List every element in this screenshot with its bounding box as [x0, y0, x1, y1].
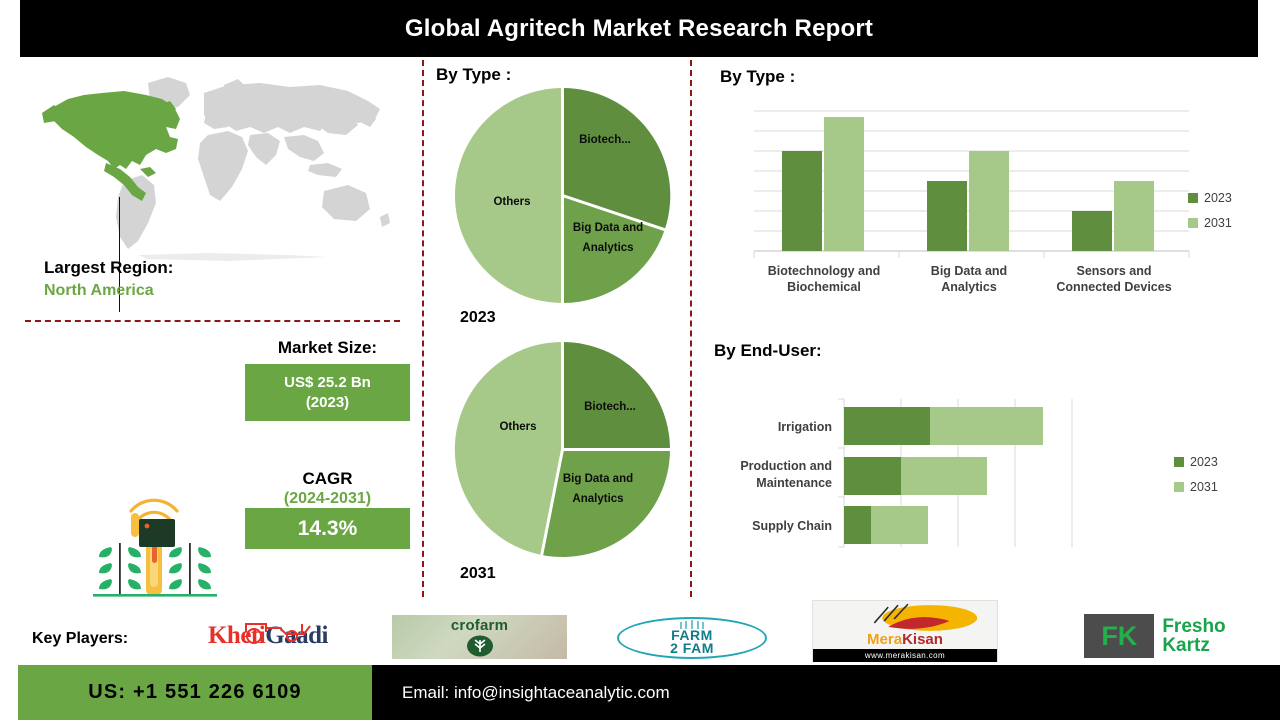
merakisan-part2: Kisan [902, 631, 943, 648]
pie-chart-2023: Biotech... Big Data and Analytics Others [450, 83, 675, 308]
legend-label-2023: 2023 [1204, 191, 1232, 205]
hbar-2031-irrigation [930, 407, 1043, 445]
pie-2023-label-bigdata: Big Data and [573, 222, 643, 234]
pie-section-title: By Type : [436, 65, 511, 85]
hbar-2031-supplychain [871, 506, 928, 544]
enduser-chart-legend: 2023 2031 [1174, 455, 1218, 505]
legend2-item-2031: 2031 [1174, 480, 1218, 494]
cagr-period: (2024-2031) [245, 490, 410, 508]
key-players-row: Key Players: KhetiGaadi crofarm [0, 597, 1280, 665]
merakisan-part1: Mera [867, 631, 902, 648]
legend2-swatch-2031 [1174, 482, 1184, 492]
bar-cat-biotech-l2: Biochemical [787, 280, 861, 294]
pie-2031-label-bigdata: Big Data and [563, 473, 633, 485]
hbar-cat-irrigation: Irrigation [778, 420, 832, 434]
hbar-cat-supplychain: Supply Chain [752, 519, 832, 533]
farm2fam-logo: FARM 2 FAM [612, 615, 772, 660]
market-size-label: Market Size: [245, 338, 410, 358]
vertical-divider-1 [422, 60, 424, 597]
legend-label-2031: 2031 [1204, 216, 1232, 230]
smart-farm-sensor-icon [85, 477, 225, 607]
khetigaadi-logo: KhetiGaadi [178, 615, 358, 657]
bar-2023-sensors [1072, 211, 1112, 251]
freshokartz-line2: Kartz [1162, 636, 1225, 655]
market-size-line2: (2023) [249, 393, 406, 413]
page-header: Global Agritech Market Research Report [20, 0, 1258, 57]
footer-email-text[interactable]: Email: info@insightaceanalytic.com [402, 683, 670, 703]
hbar-2023-production [844, 457, 901, 495]
enduser-section-title: By End-User: [714, 341, 822, 361]
pie-2023-label-biotech: Biotech... [579, 134, 631, 146]
vertical-divider-2 [690, 60, 692, 597]
legend2-swatch-2023 [1174, 457, 1184, 467]
hbar-cat-production-l1: Production and [740, 459, 832, 473]
market-size-line1: US$ 25.2 Bn [249, 373, 406, 393]
legend-swatch-2031 [1188, 218, 1198, 228]
right-column: By Type : [700, 57, 1280, 597]
legend-swatch-2023 [1188, 193, 1198, 203]
bar-2023-bigdata [927, 181, 967, 251]
merakisan-name: MeraKisan [867, 632, 943, 647]
largest-region-block: Largest Region: North America [44, 257, 374, 302]
bar-2031-biotech [824, 117, 864, 251]
freshokartz-text: Fresho Kartz [1162, 617, 1225, 656]
legend2-label-2031: 2031 [1190, 480, 1218, 494]
bar-section-title: By Type : [720, 67, 795, 87]
pie-2023-label-bigdata2: Analytics [582, 242, 633, 254]
tractor-icon [236, 618, 322, 644]
pie-2031-label-others: Others [499, 421, 536, 433]
hbar-2031-production [901, 457, 987, 495]
bar-cat-sensors-l2: Connected Devices [1056, 280, 1171, 294]
page-title: Global Agritech Market Research Report [405, 15, 873, 43]
farm2fam-oval: FARM 2 FAM [617, 617, 767, 659]
bar-chart-by-enduser: Irrigation Production and Maintenance Su… [714, 385, 1174, 565]
bar-cat-biotech-l1: Biotechnology and [768, 264, 881, 278]
bar-cat-bigdata-l2: Analytics [941, 280, 997, 294]
cagr-label: CAGR [245, 469, 410, 489]
left-horizontal-divider [25, 320, 400, 322]
legend-item-2023: 2023 [1188, 191, 1232, 205]
crofarm-text: crofarm [451, 617, 508, 634]
freshokartz-mark: FK [1084, 614, 1154, 658]
world-map-icon [28, 65, 408, 265]
pie-2031-label-bigdata2: Analytics [572, 493, 623, 505]
freshokartz-logo: FK Fresho Kartz [1050, 613, 1260, 659]
pie-2023-label-others: Others [493, 196, 530, 208]
footer-email-bar: Email: info@insightaceanalytic.com A INS… [372, 665, 1280, 720]
merakisan-url: www.merakisan.com [813, 649, 997, 662]
bar-2023-biotech [782, 151, 822, 251]
bar-cat-sensors-l1: Sensors and [1076, 264, 1151, 278]
footer-phone[interactable]: US: +1 551 226 6109 [18, 665, 372, 720]
page-footer: US: +1 551 226 6109 Email: info@insighta… [0, 665, 1280, 720]
left-panel: Largest Region: North America [0, 57, 422, 597]
crofarm-logo: crofarm [392, 615, 567, 659]
pie-2023-year: 2023 [460, 309, 496, 327]
bar-2031-bigdata [969, 151, 1009, 251]
key-players-label: Key Players: [32, 630, 128, 648]
largest-region-value: North America [44, 280, 374, 302]
bar-2031-sensors [1114, 181, 1154, 251]
market-size-value: US$ 25.2 Bn (2023) [245, 364, 410, 421]
legend-item-2031: 2031 [1188, 216, 1232, 230]
largest-region-label: Largest Region: [44, 257, 374, 280]
pie-chart-2031: Biotech... Big Data and Analytics Others [450, 337, 675, 562]
cagr-value: 14.3% [245, 508, 410, 549]
legend2-item-2023: 2023 [1174, 455, 1218, 469]
legend2-label-2023: 2023 [1190, 455, 1218, 469]
merakisan-logo: MeraKisan www.merakisan.com [812, 600, 998, 662]
hbar-cat-production-l2: Maintenance [756, 476, 832, 490]
hbar-2023-irrigation [844, 407, 930, 445]
merakisan-sun-icon [813, 601, 997, 631]
pie-column: By Type : Biotech... Big Data and Analyt… [432, 57, 690, 597]
crofarm-leaf-icon [467, 635, 493, 657]
market-stats: Market Size: US$ 25.2 Bn (2023) CAGR (20… [245, 338, 410, 549]
freshokartz-line1: Fresho [1162, 617, 1225, 636]
pie-2031-label-biotech: Biotech... [584, 401, 636, 413]
bar-chart-by-type: Biotechnology and Biochemical Big Data a… [714, 105, 1194, 295]
pie-2031-year: 2031 [460, 565, 496, 583]
bar-chart-legend: 2023 2031 [1188, 191, 1232, 241]
hbar-2023-supplychain [844, 506, 871, 544]
farm2fam-line2: 2 FAM [670, 642, 714, 655]
bar-cat-bigdata-l1: Big Data and [931, 264, 1007, 278]
